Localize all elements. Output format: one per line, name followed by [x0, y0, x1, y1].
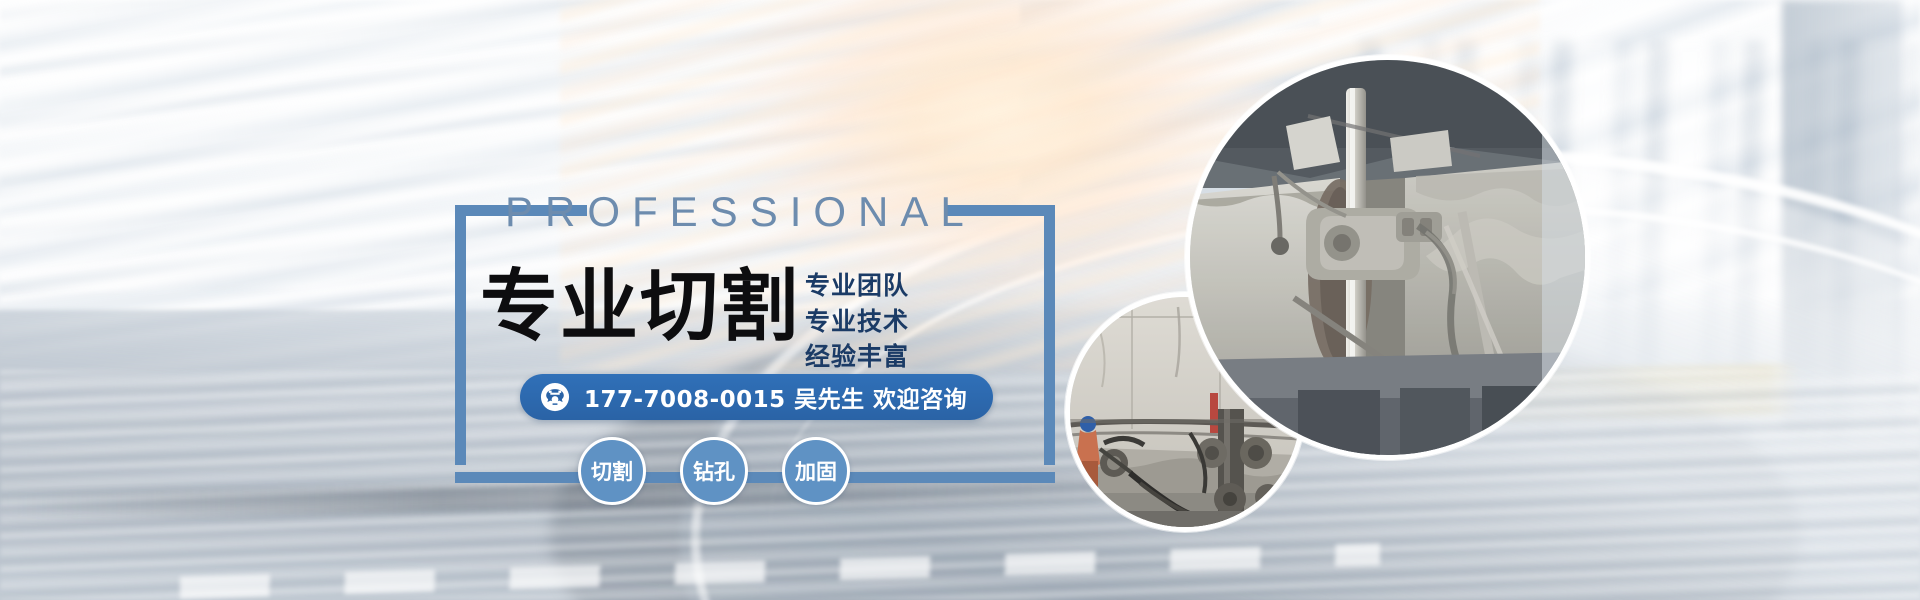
feature-item-3: 经验丰富 — [805, 339, 909, 375]
eyebrow-text: PROFESSIONAL — [505, 188, 976, 236]
service-tag-reinforcement[interactable]: 加固 — [782, 437, 850, 505]
feature-list: 专业团队 专业技术 经验丰富 — [805, 268, 909, 375]
page-title: 专业切割 — [480, 268, 800, 346]
promo-banner: PROFESSIONAL 专业切割 专业团队 专业技术 经验丰富 177-700… — [0, 0, 1920, 600]
service-tag-drilling[interactable]: 钻孔 — [680, 437, 748, 505]
banner-content: PROFESSIONAL 专业切割 专业团队 专业技术 经验丰富 177-700… — [0, 0, 1920, 600]
telephone-icon — [540, 382, 570, 412]
service-tag-cutting[interactable]: 切割 — [578, 437, 646, 505]
contact-phone-bar[interactable]: 177-7008-0015 吴先生 欢迎咨询 — [520, 374, 993, 420]
feature-item-1: 专业团队 — [805, 268, 909, 304]
service-tag-list: 切割 钻孔 加固 — [578, 437, 850, 505]
feature-item-2: 专业技术 — [805, 304, 909, 340]
contact-phone-text: 177-7008-0015 吴先生 欢迎咨询 — [584, 380, 967, 414]
